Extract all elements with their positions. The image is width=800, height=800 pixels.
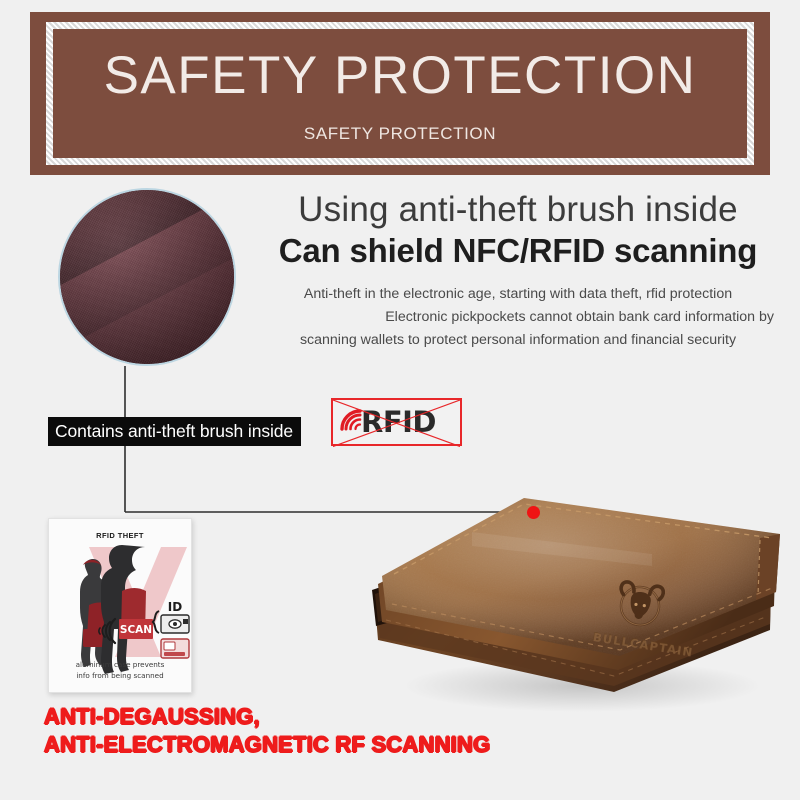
wallet-callout-marker bbox=[527, 506, 540, 519]
fabric-swatch-circle bbox=[58, 188, 236, 366]
scan-badge-label: SCAN bbox=[120, 624, 152, 636]
description-line-2: Electronic pickpockets cannot obtain ban… bbox=[258, 306, 778, 329]
description-line-1: Anti-theft in the electronic age, starti… bbox=[258, 283, 778, 306]
claim-line-2: ANTI-ELECTROMAGNETIC RF SCANNING bbox=[44, 731, 490, 759]
rfid-theft-infographic-card: SCAN ID RFID THEFT aluminum case prevent… bbox=[48, 518, 192, 693]
fabric-shading bbox=[60, 190, 234, 364]
page-title: SAFETY PROTECTION bbox=[104, 49, 697, 102]
theft-caption-line-2: info from being scanned bbox=[76, 671, 163, 680]
theft-caption-line-1: aluminum case prevents bbox=[76, 660, 165, 669]
description-line-3: scanning wallets to protect personal inf… bbox=[258, 329, 778, 352]
page-subtitle: SAFETY PROTECTION bbox=[304, 124, 496, 144]
claim-line-1: ANTI-DEGAUSSING, bbox=[44, 703, 490, 731]
headline-block: Using anti-theft brush inside Can shield… bbox=[258, 190, 778, 352]
theft-card-caption: aluminum case prevents info from being s… bbox=[49, 660, 191, 681]
headline-secondary: Can shield NFC/RFID scanning bbox=[258, 231, 778, 271]
theft-card-title: RFID THEFT bbox=[49, 531, 191, 540]
header-text-wrap: SAFETY PROTECTION SAFETY PROTECTION bbox=[53, 29, 747, 158]
brush-callout-label: Contains anti-theft brush inside bbox=[48, 417, 301, 446]
wallet-product-image: BULLCAPTAIN BULLCAPTAIN bbox=[352, 424, 792, 724]
header-hatched-border: SAFETY PROTECTION SAFETY PROTECTION bbox=[46, 22, 754, 165]
wallet-illustration: BULLCAPTAIN BULLCAPTAIN bbox=[352, 424, 792, 724]
headline-description: Anti-theft in the electronic age, starti… bbox=[258, 283, 778, 352]
headline-primary: Using anti-theft brush inside bbox=[258, 190, 778, 229]
header-banner: SAFETY PROTECTION SAFETY PROTECTION bbox=[30, 12, 770, 175]
id-label: ID bbox=[168, 600, 182, 614]
bottom-claims: ANTI-DEGAUSSING, ANTI-ELECTROMAGNETIC RF… bbox=[44, 703, 490, 759]
